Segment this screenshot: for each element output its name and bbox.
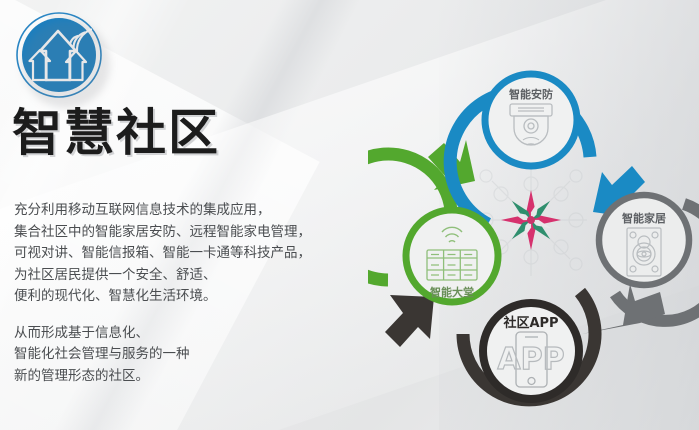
copy-line: 集合社区中的智能家居安防、远程智能家电管理， xyxy=(14,222,364,244)
node-label-app: 社区APP xyxy=(502,315,558,331)
copy-line: 新的管理形态的社区。 xyxy=(14,366,364,388)
copy-line: 从而形成基于信息化、 xyxy=(14,323,364,345)
copy-line: 为社区居民提供一个安全、舒适、 xyxy=(14,265,364,287)
node-label-security: 智能安防 xyxy=(509,87,553,101)
smart-community-logo xyxy=(14,10,106,102)
node-security[interactable]: 智能安防 xyxy=(485,74,577,166)
node-lobby[interactable]: 智能大堂 xyxy=(406,210,498,302)
copy-line: 充分利用移动互联网信息技术的集成应用， xyxy=(14,200,364,222)
paragraph-one: 充分利用移动互联网信息技术的集成应用， 集合社区中的智能家居安防、远程智能家电管… xyxy=(14,200,364,308)
node-app[interactable]: 社区APP APP xyxy=(483,303,579,399)
node-home[interactable]: 智能家居 xyxy=(599,195,689,285)
paragraph-two: 从而形成基于信息化、 智能化社会管理与服务的一种 新的管理形态的社区。 xyxy=(14,323,364,388)
poster-canvas: 智慧社区 充分利用移动互联网信息技术的集成应用， 集合社区中的智能家居安防、远程… xyxy=(0,0,699,430)
page-title: 智慧社区 xyxy=(12,108,220,158)
node-label-lobby: 智能大堂 xyxy=(430,285,474,299)
smart-community-cycle-diagram: 智能安防 xyxy=(368,44,699,430)
copy-line: 智能化社会管理与服务的一种 xyxy=(14,344,364,366)
node-label-home: 智能家居 xyxy=(622,211,666,225)
logo-shadow xyxy=(22,20,110,108)
app-screen-text: APP xyxy=(497,342,564,377)
copy-line: 可视对讲、智能信报箱、智能一卡通等科技产品， xyxy=(14,243,364,265)
copy-line: 便利的现代化、智慧化生活环境。 xyxy=(14,286,364,308)
description-block: 充分利用移动互联网信息技术的集成应用， 集合社区中的智能家居安防、远程智能家电管… xyxy=(14,200,364,387)
